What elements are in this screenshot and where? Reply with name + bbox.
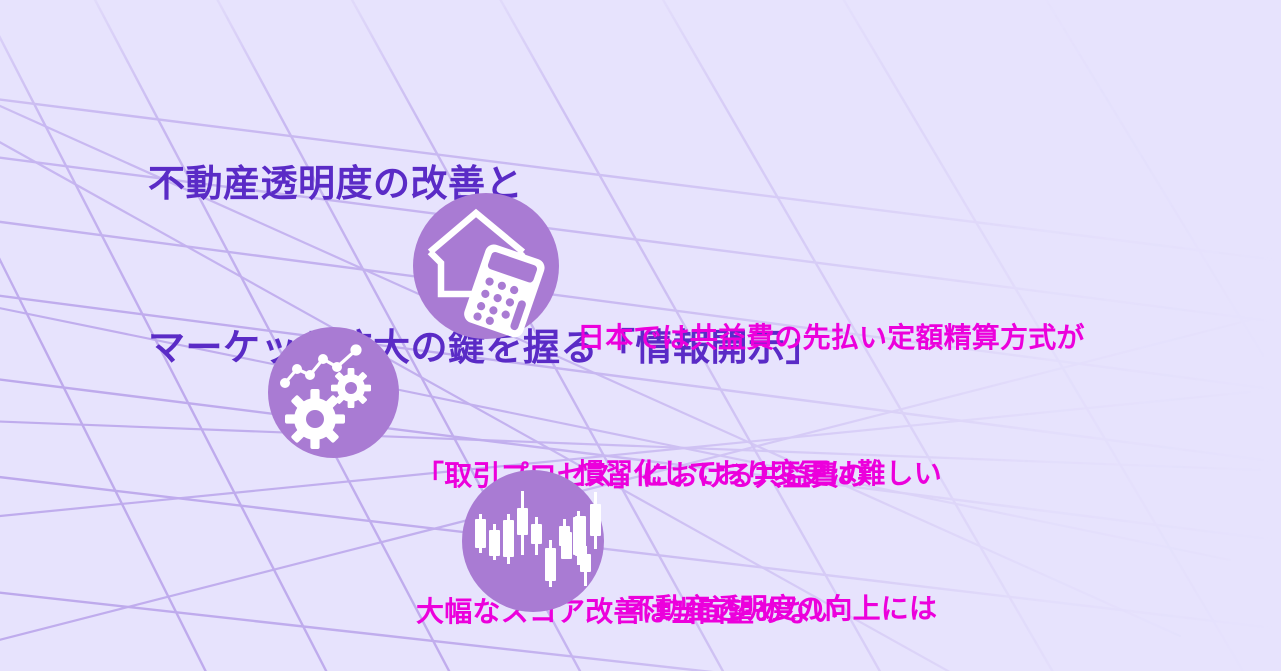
bullet-1-line-1: 日本では共益費の先払い定額精算方式が — [577, 315, 1085, 360]
candlestick-chart-icon — [462, 470, 604, 612]
slide-canvas: 不動産透明度の改善と マーケット拡大の鍵を握る「情報開示」 — [0, 0, 1281, 671]
bullet-3-line-1: 不動産透明度の向上には — [627, 586, 1134, 631]
house-calculator-icon — [413, 193, 559, 339]
line-chart-gears-icon — [268, 327, 399, 458]
bullet-text-3: 不動産透明度の向上には 不動産証券化市場の拡大が影響している — [627, 495, 1134, 671]
